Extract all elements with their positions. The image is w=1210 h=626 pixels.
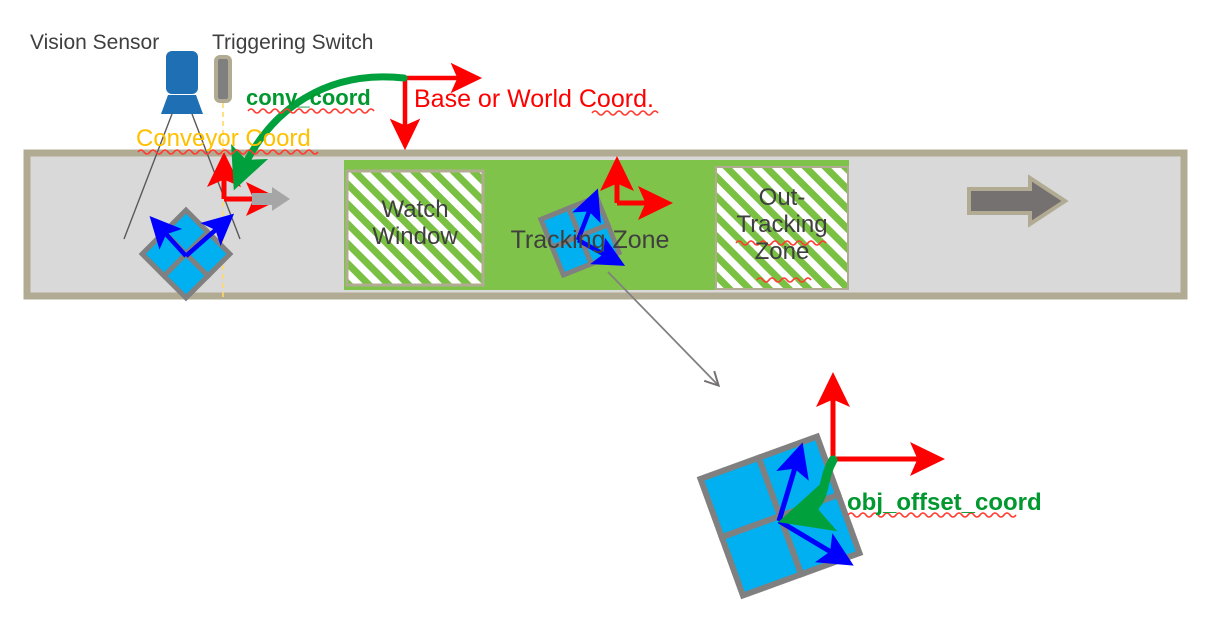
watch-window-box [347,171,483,285]
camera-lens [161,95,203,114]
diagram-canvas: Vision Sensor Triggering Switch conv_coo… [0,0,1210,626]
out-tracking-zone [716,167,848,289]
detail-base-coord-frame [833,381,936,459]
watch-window-zone [347,171,483,285]
base-world-coord-frame [405,78,474,142]
out-tracking-box [716,167,848,289]
squiggle-conv-coord [248,109,374,113]
switch-body [216,57,230,101]
camera-body [166,51,198,94]
squiggle-obj-offset-coord [848,513,1016,517]
squiggle-base-coord [592,111,658,115]
conveyor-tracking-diagram [0,0,1210,626]
